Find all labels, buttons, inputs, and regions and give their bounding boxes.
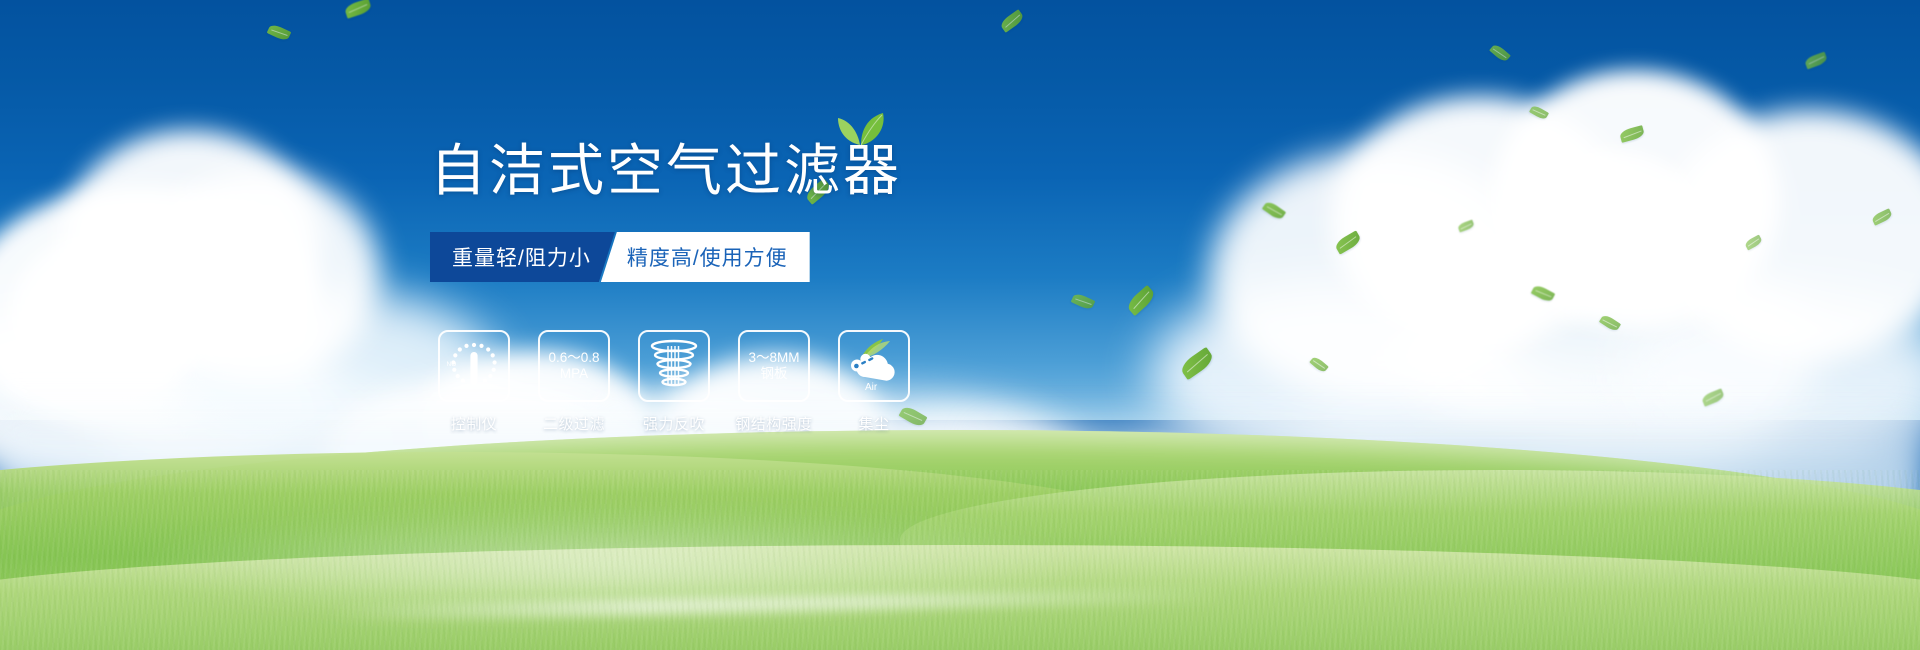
- feature-badge: 重量轻/阻力小 精度高/使用方便: [430, 232, 810, 282]
- steel-thickness: 3～8MM: [748, 350, 799, 366]
- badge-left-text: 重量轻/阻力小: [430, 232, 615, 282]
- air-label: Air: [865, 382, 878, 393]
- steel-plate-text-icon: 3～8MM 钢板: [738, 330, 810, 402]
- air-cloud-icon: Air: [838, 330, 910, 402]
- badge-right-text: 精度高/使用方便: [601, 232, 810, 282]
- feature-label: 强力反吹: [643, 413, 705, 434]
- feature-item[interactable]: NO OFF 控制仪: [438, 330, 510, 434]
- pressure-value: 0.6～0.8: [548, 350, 599, 366]
- feature-item[interactable]: 强力反吹: [638, 330, 710, 434]
- leaf-icon: [836, 112, 888, 146]
- gauge-mark-off: OFF: [487, 385, 499, 391]
- steel-material: 钢板: [761, 366, 788, 382]
- feature-label: 二级过滤: [543, 413, 605, 434]
- feature-item[interactable]: Air 集尘: [838, 330, 910, 434]
- pressure-text-icon: 0.6～0.8 MPA: [538, 330, 610, 402]
- feature-list: NO OFF 控制仪 0.6～0.8 MPA 二级过滤: [438, 330, 910, 434]
- feature-item[interactable]: 0.6～0.8 MPA 二级过滤: [538, 330, 610, 434]
- feature-item[interactable]: 3～8MM 钢板 钢结构强度: [738, 330, 810, 434]
- feature-label: 钢结构强度: [735, 413, 813, 434]
- feature-label: 控制仪: [451, 413, 498, 434]
- pressure-unit: MPA: [560, 366, 588, 382]
- banner-content: 自洁式空气过滤器 重量轻/阻力小 精度高/使用方便: [0, 0, 1920, 650]
- gauge-dial-icon: NO OFF: [438, 330, 510, 402]
- filter-coil-icon: [638, 330, 710, 402]
- page-title: 自洁式空气过滤器: [430, 126, 902, 207]
- feature-label: 集尘: [858, 413, 889, 434]
- product-banner: 自洁式空气过滤器 重量轻/阻力小 精度高/使用方便: [0, 0, 1920, 650]
- gauge-mark-no: NO: [447, 361, 457, 368]
